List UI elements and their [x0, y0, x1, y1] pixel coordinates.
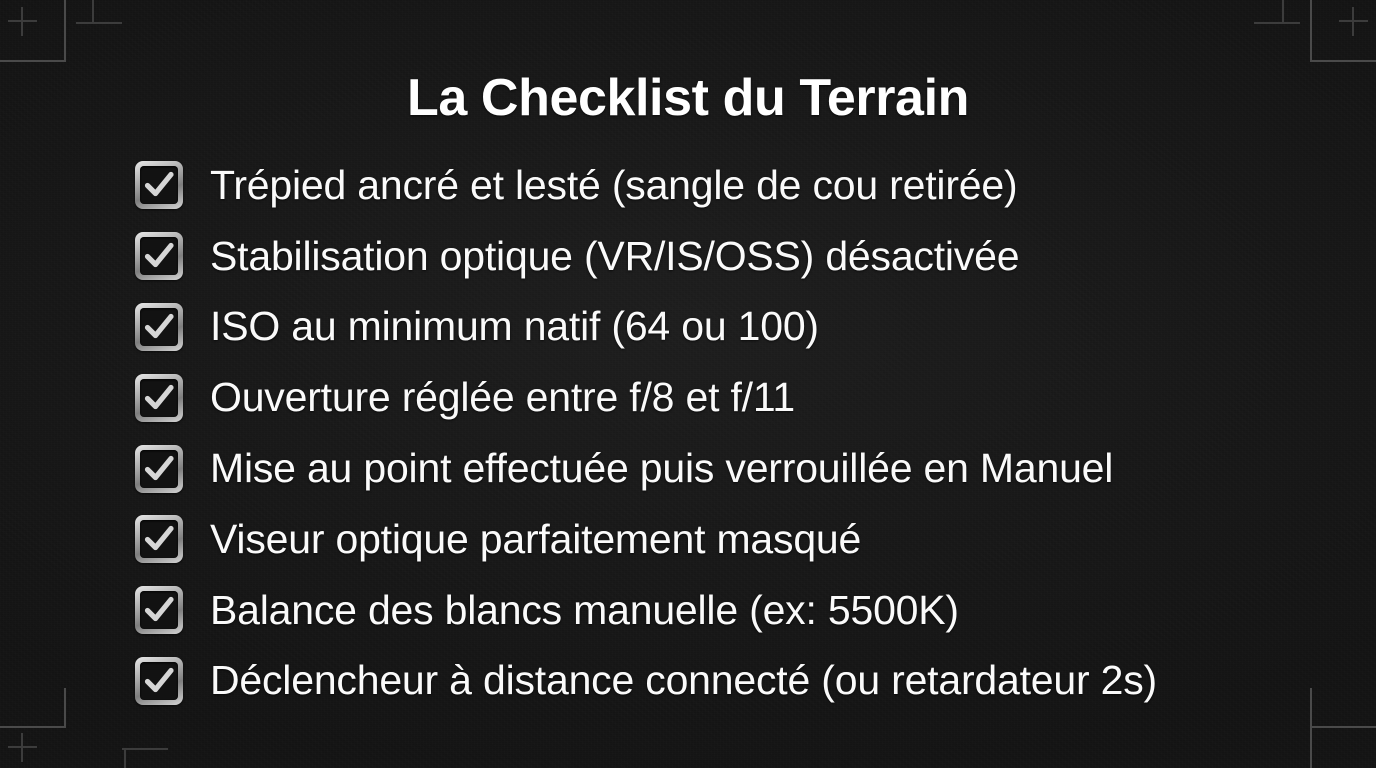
- list-item[interactable]: Stabilisation optique (VR/IS/OSS) désact…: [135, 221, 1335, 292]
- list-item[interactable]: ISO au minimum natif (64 ou 100): [135, 292, 1335, 363]
- list-item-label: Déclencheur à distance connecté (ou reta…: [210, 660, 1157, 701]
- page-title: La Checklist du Terrain: [0, 71, 1376, 126]
- list-item-label: Mise au point effectuée puis verrouillée…: [210, 448, 1113, 489]
- checkbox-checked-icon[interactable]: [135, 161, 183, 209]
- checkbox-checked-icon[interactable]: [135, 657, 183, 705]
- checkbox-checked-icon[interactable]: [135, 232, 183, 280]
- list-item-label: Stabilisation optique (VR/IS/OSS) désact…: [210, 236, 1019, 277]
- checkbox-checked-icon[interactable]: [135, 374, 183, 422]
- checkbox-checked-icon[interactable]: [135, 515, 183, 563]
- list-item-label: Ouverture réglée entre f/8 et f/11: [210, 377, 795, 418]
- list-item[interactable]: Trépied ancré et lesté (sangle de cou re…: [135, 150, 1335, 221]
- checkbox-checked-icon[interactable]: [135, 303, 183, 351]
- list-item[interactable]: Déclencheur à distance connecté (ou reta…: [135, 646, 1335, 717]
- slide-canvas: La Checklist du Terrain Trépied ancré et…: [0, 0, 1376, 768]
- checklist: Trépied ancré et lesté (sangle de cou re…: [135, 150, 1335, 716]
- checkbox-checked-icon[interactable]: [135, 586, 183, 634]
- list-item[interactable]: Viseur optique parfaitement masqué: [135, 504, 1335, 575]
- list-item-label: Trépied ancré et lesté (sangle de cou re…: [210, 165, 1017, 206]
- checkbox-checked-icon[interactable]: [135, 445, 183, 493]
- list-item[interactable]: Ouverture réglée entre f/8 et f/11: [135, 362, 1335, 433]
- list-item-label: ISO au minimum natif (64 ou 100): [210, 306, 819, 347]
- list-item-label: Balance des blancs manuelle (ex: 5500K): [210, 590, 959, 631]
- list-item[interactable]: Balance des blancs manuelle (ex: 5500K): [135, 575, 1335, 646]
- list-item[interactable]: Mise au point effectuée puis verrouillée…: [135, 433, 1335, 504]
- list-item-label: Viseur optique parfaitement masqué: [210, 519, 861, 560]
